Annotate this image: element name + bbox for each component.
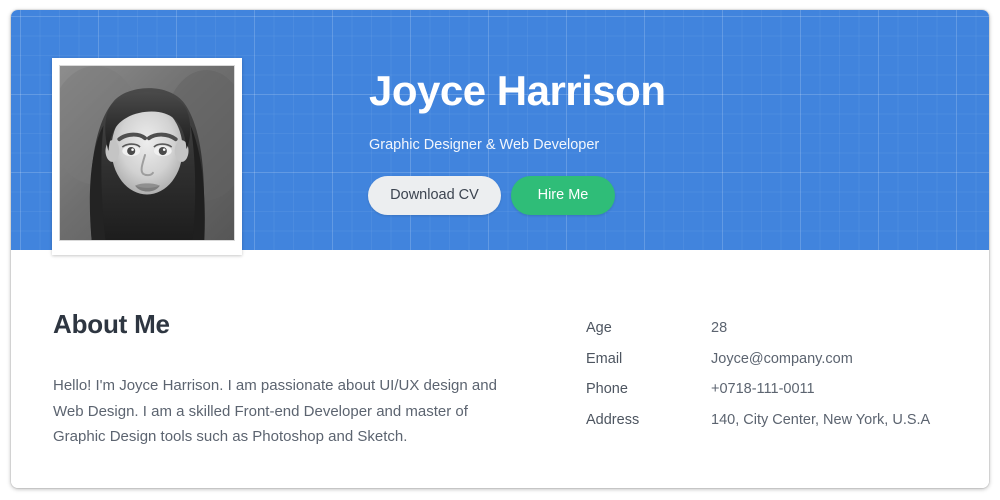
detail-value-address: 140, City Center, New York, U.S.A xyxy=(711,412,930,428)
profile-card: Joyce Harrison Graphic Designer & Web De… xyxy=(11,10,989,488)
detail-value-email[interactable]: Joyce@company.com xyxy=(711,351,853,367)
profile-body: About Me Hello! I'm Joyce Harrison. I am… xyxy=(11,250,989,488)
hire-me-button[interactable]: Hire Me xyxy=(511,176,615,215)
download-cv-button[interactable]: Download CV xyxy=(368,176,501,215)
list-item: Age 28 xyxy=(586,320,966,351)
header-action-buttons: Download CV Hire Me xyxy=(368,176,615,215)
person-role: Graphic Designer & Web Developer xyxy=(369,136,929,154)
person-name: Joyce Harrison xyxy=(369,65,929,117)
about-text: Hello! I'm Joyce Harrison. I am passiona… xyxy=(53,373,503,450)
detail-value-age: 28 xyxy=(711,320,727,336)
about-section: About Me Hello! I'm Joyce Harrison. I am… xyxy=(53,308,503,450)
header-text-block: Joyce Harrison Graphic Designer & Web De… xyxy=(369,65,929,154)
detail-value-phone[interactable]: +0718-111-0011 xyxy=(711,381,815,397)
avatar xyxy=(52,58,242,255)
detail-label-email: Email xyxy=(586,351,711,367)
list-item: Phone +0718-111-0011 xyxy=(586,381,966,412)
detail-label-phone: Phone xyxy=(586,381,711,397)
portrait-photo-icon xyxy=(59,65,235,241)
detail-label-address: Address xyxy=(586,412,711,428)
detail-label-age: Age xyxy=(586,320,711,336)
about-title: About Me xyxy=(53,308,503,340)
list-item: Email Joyce@company.com xyxy=(586,351,966,382)
list-item: Address 140, City Center, New York, U.S.… xyxy=(586,412,966,443)
details-list: Age 28 Email Joyce@company.com Phone +07… xyxy=(586,320,966,442)
